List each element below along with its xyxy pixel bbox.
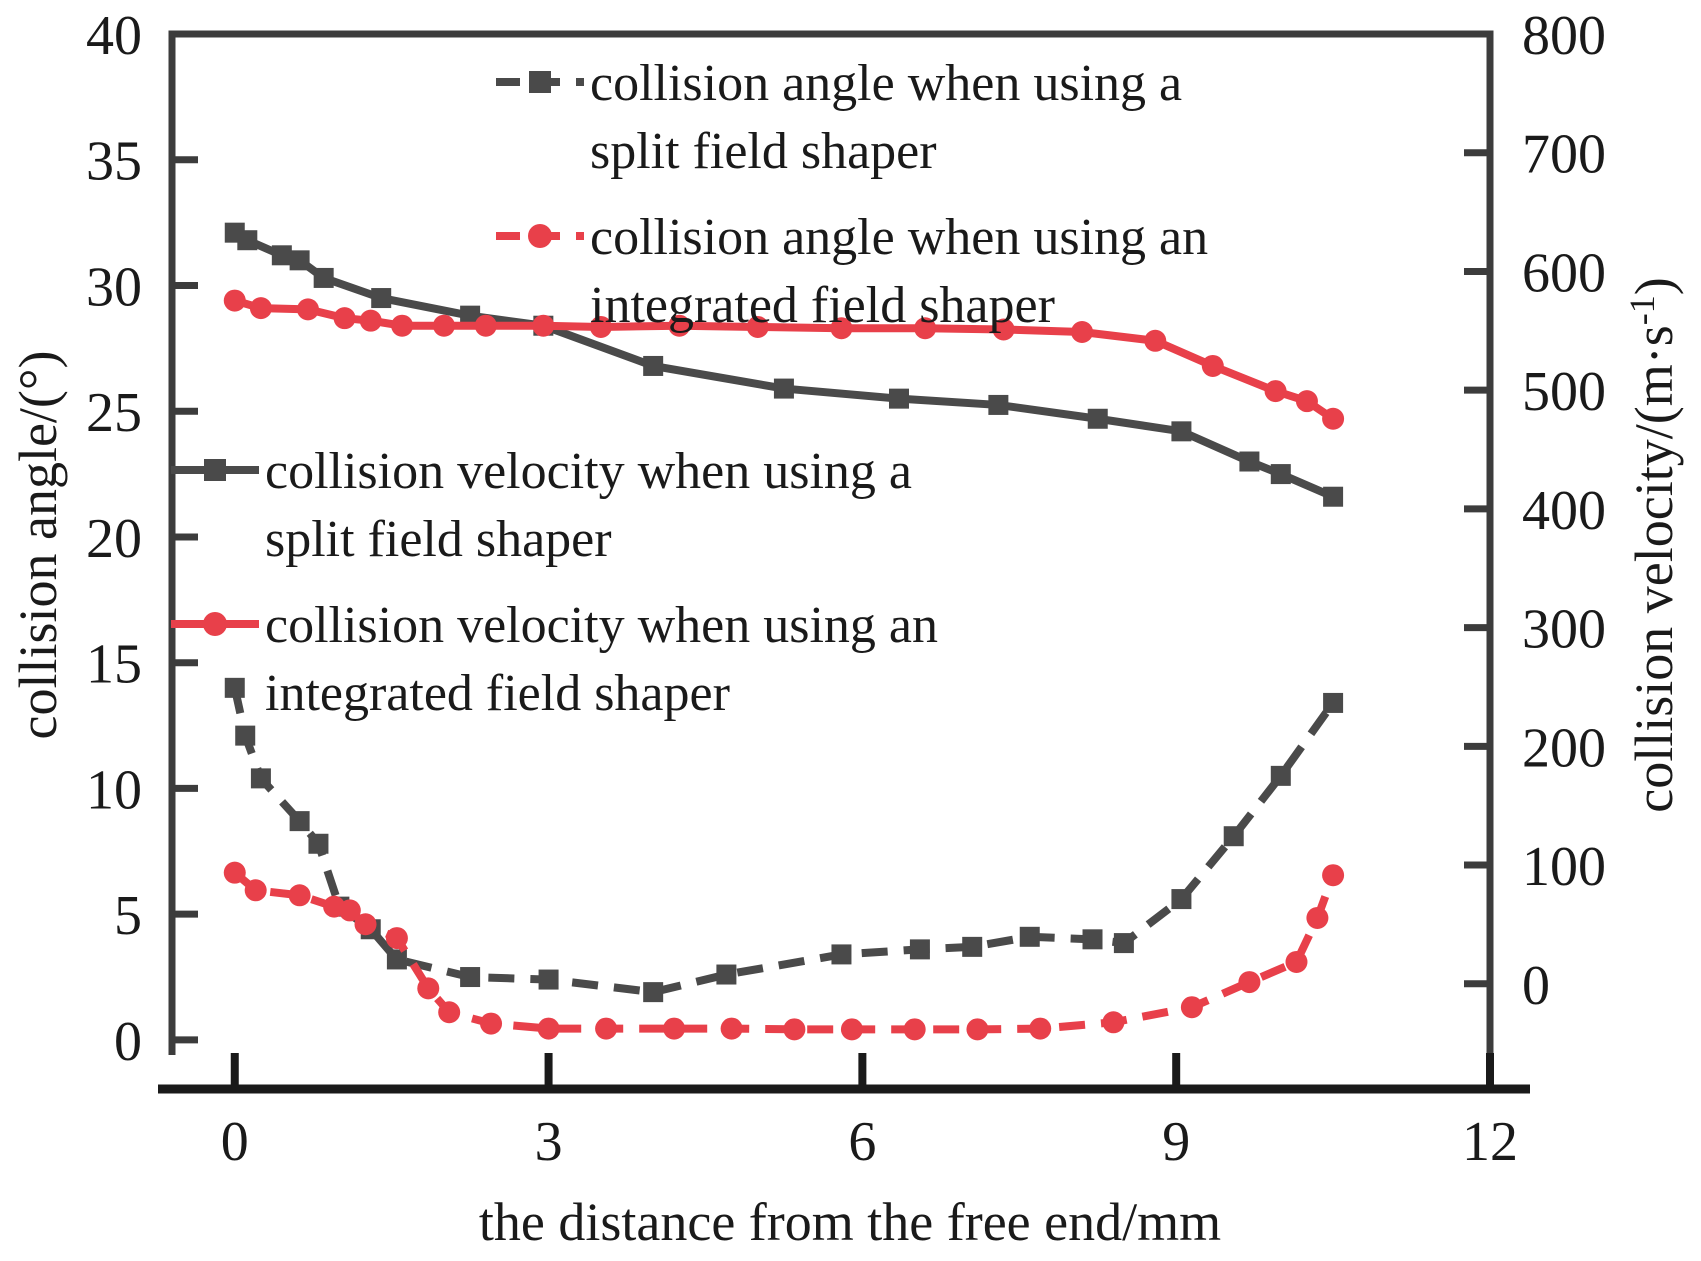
data-point-circle <box>250 297 272 319</box>
data-point-circle <box>1071 321 1093 343</box>
x-tick-label: 6 <box>848 1111 876 1173</box>
data-point-square <box>204 459 226 481</box>
data-point-circle <box>224 290 246 312</box>
y-tick-label-left: 40 <box>86 5 142 67</box>
y-tick-label-left: 0 <box>114 1011 142 1073</box>
data-point-circle <box>1238 971 1260 993</box>
data-point-square <box>1083 929 1103 949</box>
data-point-circle <box>297 298 319 320</box>
data-point-square <box>1323 693 1343 713</box>
data-point-circle <box>721 1018 743 1040</box>
data-point-circle <box>663 1018 685 1040</box>
data-point-square <box>643 982 663 1002</box>
data-point-square <box>1271 464 1291 484</box>
data-point-circle <box>355 913 377 935</box>
legend-label-line1: collision angle when using a <box>590 55 1182 112</box>
data-point-circle <box>1029 1018 1051 1040</box>
data-point-circle <box>528 224 552 248</box>
legend-label-line1: collision velocity when using an <box>265 597 938 654</box>
data-point-circle <box>289 884 311 906</box>
data-point-square <box>235 726 255 746</box>
y-tick-label-left: 25 <box>86 382 142 444</box>
data-point-circle <box>433 315 455 337</box>
data-point-circle <box>480 1013 502 1035</box>
data-point-square <box>539 970 559 990</box>
data-point-square <box>716 965 736 985</box>
data-point-circle <box>1181 996 1203 1018</box>
y-tick-label-right: 400 <box>1522 480 1606 542</box>
y-axis-title-left: collision angle/(°) <box>8 351 68 740</box>
data-point-circle <box>1306 907 1328 929</box>
data-point-circle <box>203 612 227 636</box>
chart-figure: collision angle when using asplit field … <box>0 0 1701 1261</box>
data-point-circle <box>1296 390 1318 412</box>
data-point-square <box>889 389 909 409</box>
legend-label-line1: collision angle when using an <box>590 209 1208 266</box>
collision-angle-velocity-chart: collision angle when using asplit field … <box>0 0 1701 1261</box>
data-point-square <box>371 288 391 308</box>
data-point-square <box>290 811 310 831</box>
data-point-circle <box>1102 1011 1124 1033</box>
legend-label-line2: split field shaper <box>590 123 937 180</box>
data-point-circle <box>245 879 267 901</box>
data-point-circle <box>224 862 246 884</box>
data-point-square <box>1271 766 1291 786</box>
data-point-square <box>774 379 794 399</box>
data-point-circle <box>532 315 554 337</box>
y-tick-label-right: 0 <box>1522 955 1550 1017</box>
data-point-circle <box>595 1018 617 1040</box>
data-point-square <box>1171 421 1191 441</box>
x-tick-label: 3 <box>535 1111 563 1173</box>
data-point-square <box>225 678 245 698</box>
x-tick-label: 12 <box>1462 1111 1518 1173</box>
legend-label-line1: collision velocity when using a <box>265 443 912 500</box>
data-point-square <box>1323 487 1343 507</box>
y-tick-label-right: 200 <box>1522 717 1606 779</box>
x-axis-title: the distance from the free end/mm <box>479 1192 1221 1252</box>
data-point-circle <box>334 307 356 329</box>
data-point-square <box>251 768 271 788</box>
data-point-circle <box>391 315 413 337</box>
data-point-circle <box>538 1018 560 1040</box>
y-axis-title-right: collision velocity/(m·s-1) <box>1622 277 1684 812</box>
data-point-circle <box>1322 864 1344 886</box>
y-tick-label-right: 300 <box>1522 599 1606 661</box>
data-point-square <box>290 250 310 270</box>
y-tick-label-left: 15 <box>86 634 142 696</box>
data-point-square <box>308 834 328 854</box>
data-point-circle <box>966 1018 988 1040</box>
y-tick-label-right: 100 <box>1522 836 1606 898</box>
data-point-square <box>1239 452 1259 472</box>
data-point-circle <box>841 1018 863 1040</box>
x-tick-label: 0 <box>221 1111 249 1173</box>
x-tick-label: 9 <box>1162 1111 1190 1173</box>
legend-label-line2: split field shaper <box>265 511 612 568</box>
data-point-square <box>460 967 480 987</box>
data-point-square <box>988 395 1008 415</box>
data-point-circle <box>1322 408 1344 430</box>
data-point-circle <box>438 1001 460 1023</box>
data-point-square <box>272 245 292 265</box>
legend-label-line2: integrated field shaper <box>590 277 1055 334</box>
y-tick-label-left: 30 <box>86 256 142 318</box>
data-point-circle <box>475 315 497 337</box>
data-point-square <box>1171 889 1191 909</box>
data-point-circle <box>904 1018 926 1040</box>
y-tick-label-right: 500 <box>1522 361 1606 423</box>
data-point-circle <box>360 310 382 332</box>
data-point-circle <box>417 977 439 999</box>
y-tick-label-right: 800 <box>1522 5 1606 67</box>
data-point-square <box>1114 933 1134 953</box>
data-point-square <box>529 71 551 93</box>
data-point-square <box>237 230 257 250</box>
y-tick-label-left: 20 <box>86 508 142 570</box>
y-tick-label-left: 10 <box>86 759 142 821</box>
data-point-circle <box>783 1018 805 1040</box>
data-point-square <box>1224 826 1244 846</box>
data-point-square <box>643 356 663 376</box>
data-point-circle <box>1285 951 1307 973</box>
y-tick-label-right: 700 <box>1522 124 1606 186</box>
data-point-square <box>962 937 982 957</box>
legend-label-line2: integrated field shaper <box>265 665 730 722</box>
data-point-square <box>910 939 930 959</box>
y-tick-label-left: 35 <box>86 131 142 193</box>
data-point-square <box>387 949 407 969</box>
y-tick-label-right: 600 <box>1522 242 1606 304</box>
data-point-square <box>1020 927 1040 947</box>
data-point-square <box>314 268 334 288</box>
data-point-circle <box>1265 380 1287 402</box>
data-point-circle <box>1144 330 1166 352</box>
data-point-circle <box>386 927 408 949</box>
data-point-circle <box>1202 355 1224 377</box>
data-point-square <box>831 944 851 964</box>
y-tick-label-left: 5 <box>114 885 142 947</box>
data-point-square <box>1088 409 1108 429</box>
